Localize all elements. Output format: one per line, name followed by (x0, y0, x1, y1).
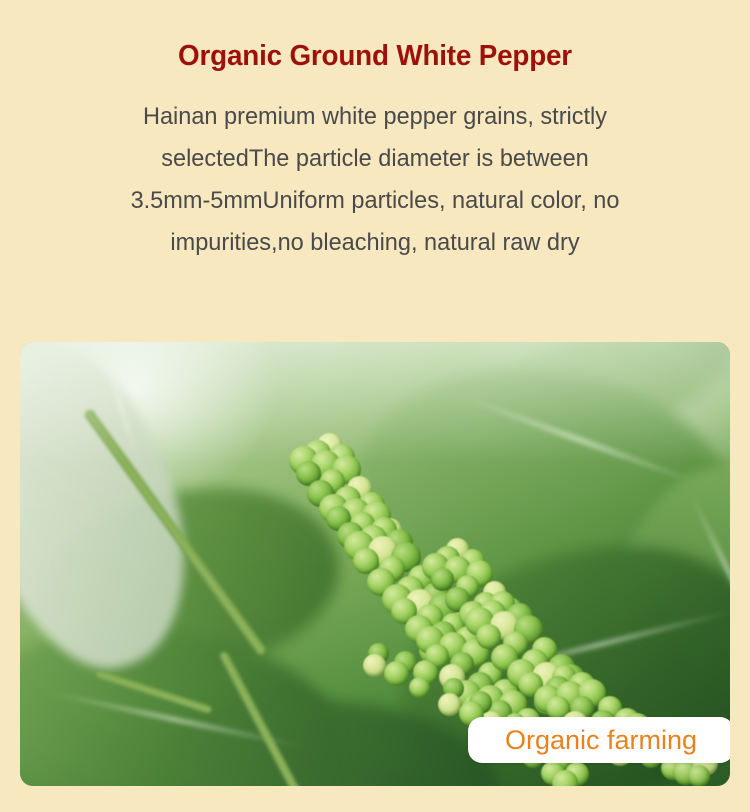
description-line: impurities,no bleaching, natural raw dry (61, 222, 688, 264)
product-header: Organic Ground White Pepper Hainan premi… (0, 0, 750, 264)
badge-label: Organic farming (505, 727, 697, 754)
product-description: Hainan premium white pepper grains, stri… (61, 96, 688, 264)
peppercorn-berry (409, 677, 430, 698)
peppercorn-berry (363, 654, 386, 677)
peppercorn-berry (688, 765, 710, 786)
description-line: 3.5mm-5mmUniform particles, natural colo… (61, 180, 688, 222)
product-photo: Organic farming Farm direct supply (20, 342, 730, 786)
peppercorn-berry (438, 693, 461, 716)
description-line: selectedThe particle diameter is between (61, 138, 688, 180)
description-line: Hainan premium white pepper grains, stri… (61, 96, 688, 138)
badge-organic-farming: Organic farming (468, 717, 730, 763)
page-title: Organic Ground White Pepper (15, 38, 735, 74)
